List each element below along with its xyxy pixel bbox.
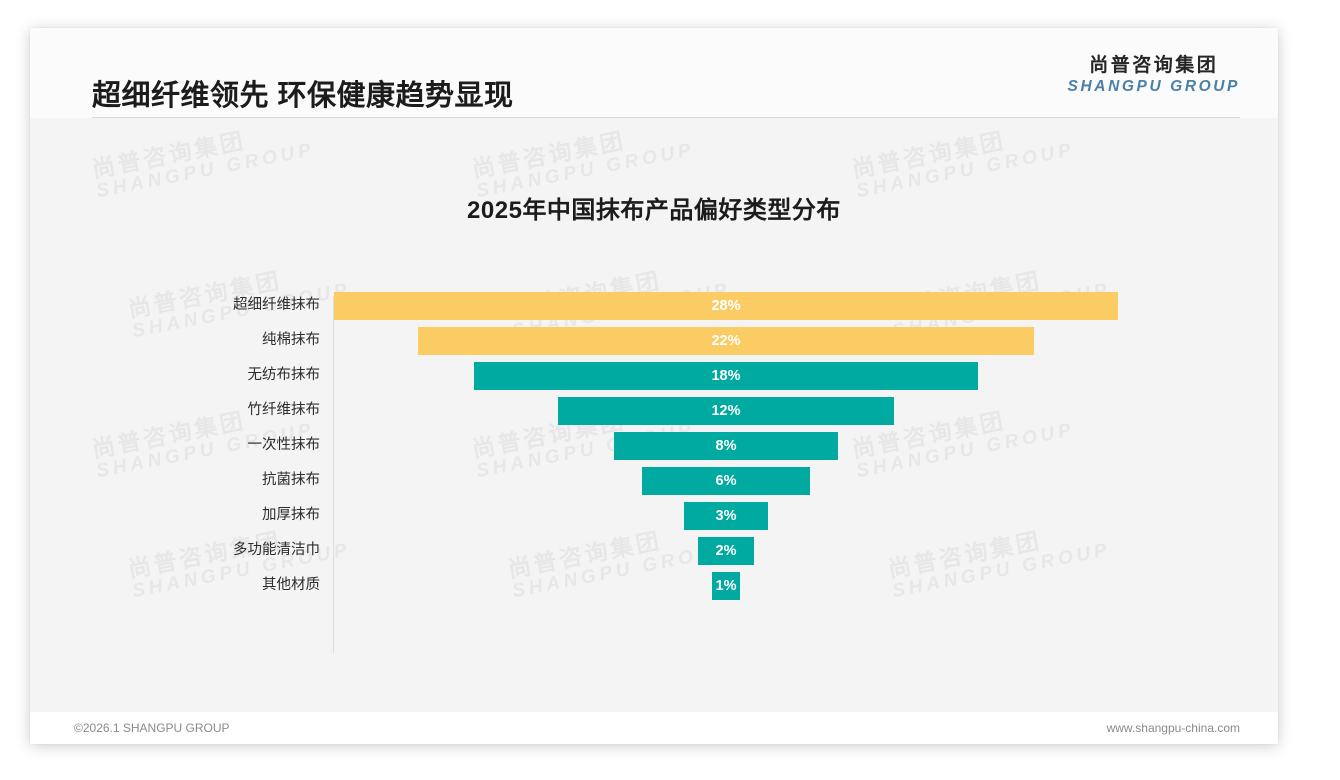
category-label: 其他材质	[120, 568, 320, 603]
bar-value-label: 18%	[474, 362, 978, 390]
chart-row: 无纺布抹布18%	[120, 358, 1190, 393]
chart-title: 2025年中国抹布产品偏好类型分布	[30, 190, 1278, 225]
copyright-text: ©2026.1 SHANGPU GROUP	[74, 721, 230, 735]
chart-board: 尚普咨询集团SHANGPU GROUP尚普咨询集团SHANGPU GROUP尚普…	[30, 118, 1278, 712]
chart-row: 其他材质1%	[120, 568, 1190, 603]
watermark-cn: 尚普咨询集团	[850, 118, 1073, 182]
brand-logo-cn: 尚普咨询集团	[1068, 56, 1240, 75]
bar-value-label: 6%	[642, 467, 810, 495]
watermark-cn: 尚普咨询集团	[90, 118, 313, 182]
watermark-cn: 尚普咨询集团	[470, 118, 693, 182]
chart-row: 一次性抹布8%	[120, 428, 1190, 463]
brand-logo-en: SHANGPU GROUP	[1068, 79, 1240, 95]
chart-row: 纯棉抹布22%	[120, 323, 1190, 358]
bar-value-label: 3%	[684, 502, 768, 530]
chart-row: 竹纤维抹布12%	[120, 393, 1190, 428]
category-label: 无纺布抹布	[120, 358, 320, 393]
bar-value-label: 8%	[614, 432, 838, 460]
bar-value-label: 22%	[418, 327, 1034, 355]
category-label: 纯棉抹布	[120, 323, 320, 358]
chart-row: 抗菌抹布6%	[120, 463, 1190, 498]
chart-row: 超细纤维抹布28%	[120, 288, 1190, 323]
category-label: 多功能清洁巾	[120, 533, 320, 568]
chart-row: 加厚抹布3%	[120, 498, 1190, 533]
funnel-chart: 超细纤维抹布28%纯棉抹布22%无纺布抹布18%竹纤维抹布12%一次性抹布8%抗…	[120, 288, 1190, 658]
slide-header: 超细纤维领先 环保健康趋势显现 尚普咨询集团 SHANGPU GROUP	[30, 28, 1278, 118]
slide-footer: ©2026.1 SHANGPU GROUP www.shangpu-china.…	[30, 712, 1278, 744]
bar-value-label: 28%	[334, 292, 1118, 320]
category-label: 超细纤维抹布	[120, 288, 320, 323]
bar-value-label: 2%	[698, 537, 754, 565]
category-label: 竹纤维抹布	[120, 393, 320, 428]
website-link[interactable]: www.shangpu-china.com	[1107, 721, 1240, 735]
category-label: 加厚抹布	[120, 498, 320, 533]
chart-row: 多功能清洁巾2%	[120, 533, 1190, 568]
slide-page: 超细纤维领先 环保健康趋势显现 尚普咨询集团 SHANGPU GROUP 尚普咨…	[30, 28, 1278, 744]
bar-value-label: 1%	[712, 572, 740, 600]
category-label: 抗菌抹布	[120, 463, 320, 498]
page-title: 超细纤维领先 环保健康趋势显现	[92, 72, 514, 114]
category-label: 一次性抹布	[120, 428, 320, 463]
brand-logo: 尚普咨询集团 SHANGPU GROUP	[1068, 56, 1240, 95]
bar-value-label: 12%	[558, 397, 894, 425]
